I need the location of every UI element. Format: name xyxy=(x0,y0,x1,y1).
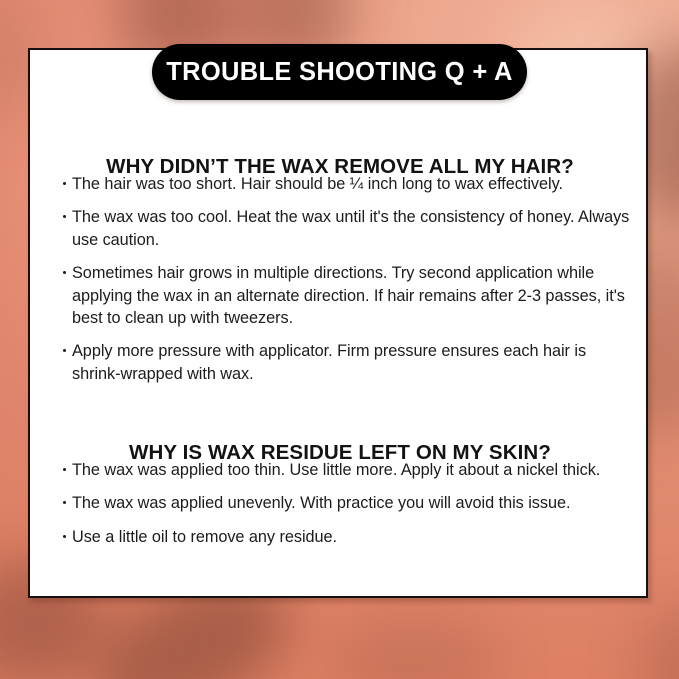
list-item-text: The wax was applied unevenly. With pract… xyxy=(72,492,631,514)
bullet-dot-icon xyxy=(63,468,66,471)
list-item-text: The wax was applied too thin. Use little… xyxy=(72,459,631,481)
infographic-canvas: WHY DIDN’T THE WAX REMOVE ALL MY HAIR? T… xyxy=(0,0,679,679)
bullet-dot-icon xyxy=(63,349,66,352)
list-item: Sometimes hair grows in multiple directi… xyxy=(63,262,631,329)
list-item: The wax was applied too thin. Use little… xyxy=(63,459,631,481)
content-card: WHY DIDN’T THE WAX REMOVE ALL MY HAIR? T… xyxy=(28,48,648,598)
list-item-text: Sometimes hair grows in multiple directi… xyxy=(72,262,631,329)
list-item: Use a little oil to remove any residue. xyxy=(63,526,631,548)
bullet-dot-icon xyxy=(63,501,66,504)
title-badge: TROUBLE SHOOTING Q + A xyxy=(152,44,527,100)
card-body: WHY DIDN’T THE WAX REMOVE ALL MY HAIR? T… xyxy=(30,50,650,600)
bullet-list-hair-removal: The hair was too short. Hair should be ¼… xyxy=(63,173,631,385)
bullet-dot-icon xyxy=(63,182,66,185)
bullet-dot-icon xyxy=(63,271,66,274)
title-badge-label: TROUBLE SHOOTING Q + A xyxy=(166,58,512,87)
list-item-text: The wax was too cool. Heat the wax until… xyxy=(72,206,631,251)
list-item: The wax was applied unevenly. With pract… xyxy=(63,492,631,514)
list-item-text: The hair was too short. Hair should be ¼… xyxy=(72,173,631,195)
bullet-list-wax-residue: The wax was applied too thin. Use little… xyxy=(63,459,631,548)
list-item: The hair was too short. Hair should be ¼… xyxy=(63,173,631,195)
list-item-text: Use a little oil to remove any residue. xyxy=(72,526,631,548)
list-item-text: Apply more pressure with applicator. Fir… xyxy=(72,340,631,385)
list-item: The wax was too cool. Heat the wax until… xyxy=(63,206,631,251)
bullet-dot-icon xyxy=(63,535,66,538)
bullet-dot-icon xyxy=(63,215,66,218)
list-item: Apply more pressure with applicator. Fir… xyxy=(63,340,631,385)
